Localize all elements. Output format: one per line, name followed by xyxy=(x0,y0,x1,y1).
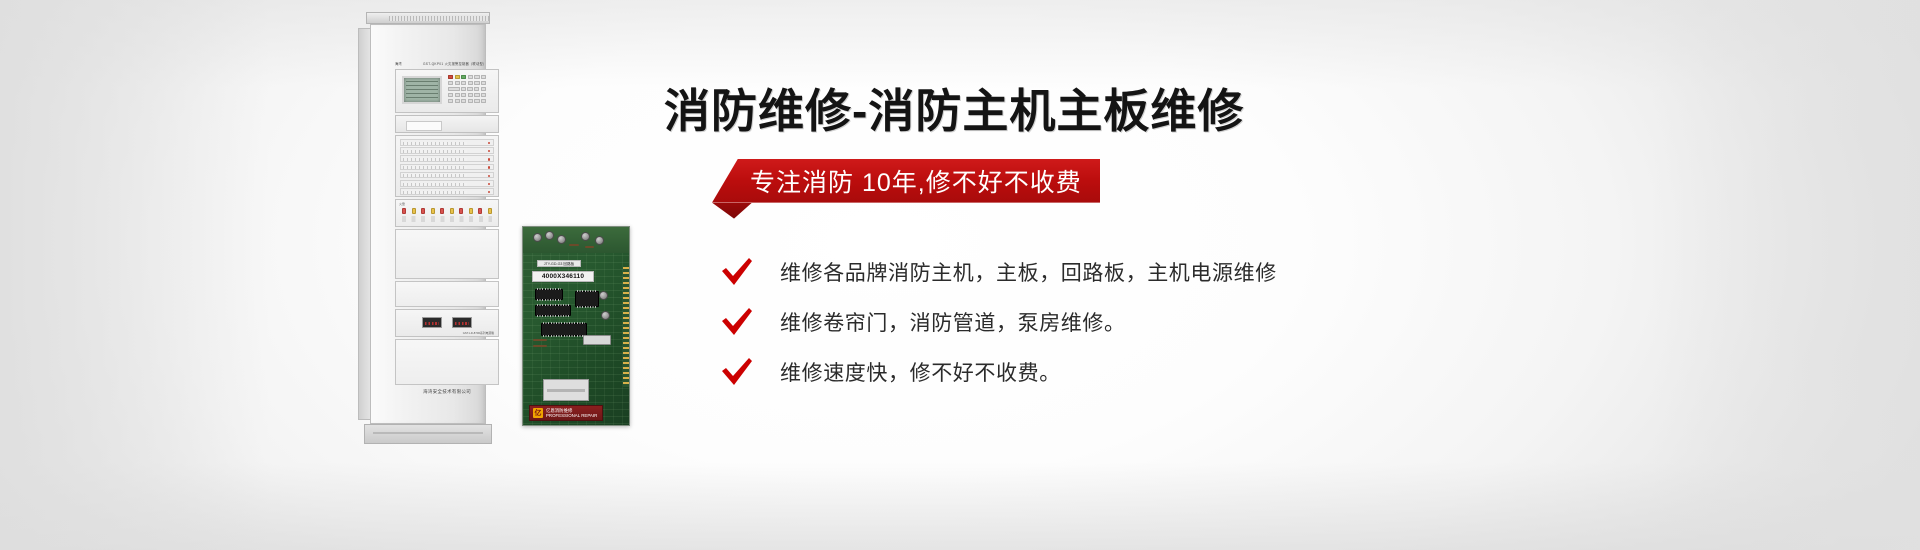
capacitor xyxy=(545,231,554,240)
banner-title: 消防维修-消防主机主板维修 xyxy=(664,86,1844,137)
pcb-sub-label: JTY-GD-G3 回路板 xyxy=(537,260,581,267)
cabinet-body: 海湾 GST-QKP01 火灾报警控制器（联动型） xyxy=(370,24,486,424)
cabinet-top xyxy=(366,12,490,24)
cabinet-blank-panel xyxy=(395,229,499,279)
list-item-label: 维修各品牌消防主机，主板，回路板，主机电源维修 xyxy=(780,257,1277,287)
resistor xyxy=(569,244,579,246)
loop-card-row xyxy=(400,188,494,195)
loop-card-row xyxy=(400,147,494,154)
cabinet-loop-card-rack xyxy=(395,135,499,197)
cabinet-brand-mark: 海湾 xyxy=(395,61,402,66)
circuit-board-image: JTY-GD-G3 回路板 4000X346110 亿 亿恩消防维修 PROFE… xyxy=(522,226,630,426)
connector xyxy=(583,335,611,345)
cabinet-printer-drawer xyxy=(395,115,499,133)
cabinet-blank-panel xyxy=(395,281,499,307)
loop-card-row xyxy=(400,164,494,171)
check-icon xyxy=(720,257,754,287)
resistor xyxy=(585,246,594,248)
ribbon-tail xyxy=(712,203,752,219)
lcd-text-lines xyxy=(406,81,438,101)
indicator-panel-label: 火警 xyxy=(399,202,405,206)
list-item-label: 维修卷帘门，消防管道，泵房维修。 xyxy=(780,307,1126,337)
led-strip xyxy=(402,208,492,214)
cabinet-keypad xyxy=(448,75,496,109)
list-item: 维修各品牌消防主机，主板，回路板，主机电源维修 xyxy=(664,247,1844,297)
ribbon-label: 专注消防 10年,修不好不收费 xyxy=(712,163,1082,199)
check-icon xyxy=(720,307,754,337)
cabinet-power-meter-module: GST-LD-8700系列电源箱 xyxy=(395,309,499,337)
feature-list: 维修各品牌消防主机，主板，回路板，主机电源维修 维修卷帘门，消防管道，泵房维修。… xyxy=(664,247,1844,397)
capacitor xyxy=(533,233,542,242)
cabinet-lower-panel xyxy=(395,339,499,385)
ic-chip xyxy=(535,305,571,316)
ic-socket xyxy=(543,379,589,401)
promo-banner: 海湾 GST-QKP01 火灾报警控制器（联动型） xyxy=(0,0,1920,550)
ic-chip xyxy=(575,291,599,307)
cabinet-lcd-screen xyxy=(402,76,442,104)
pcb-part-number-label: 4000X346110 xyxy=(532,271,594,282)
cabinet-base xyxy=(364,424,492,444)
list-item-label: 维修速度快，修不好不收费。 xyxy=(780,357,1061,387)
loop-card-row xyxy=(400,172,494,179)
cabinet-display-module xyxy=(395,69,499,113)
capacitor xyxy=(557,235,566,244)
capacitor xyxy=(599,291,608,300)
slogan-ribbon: 专注消防 10年,修不好不收费 xyxy=(664,159,1100,207)
loop-card-row xyxy=(400,139,494,146)
cabinet-head-label: GST-QKP01 火灾报警控制器（联动型） xyxy=(423,61,485,66)
ic-chip xyxy=(535,289,563,300)
loop-card-row xyxy=(400,180,494,187)
current-meter xyxy=(452,317,472,328)
led-label-strip xyxy=(402,216,492,222)
list-item: 维修卷帘门，消防管道，泵房维修。 xyxy=(664,297,1844,347)
resistor xyxy=(533,339,547,341)
badge-logo-mark: 亿 xyxy=(533,408,543,418)
edge-connector xyxy=(623,267,629,387)
watermark-badge: 亿 亿恩消防维修 PROFESSIONAL REPAIR xyxy=(529,405,603,421)
cabinet-company-name: 海湾安全技术有限公司 xyxy=(395,389,499,395)
ribbon-body: 专注消防 10年,修不好不收费 xyxy=(712,159,1100,203)
capacitor xyxy=(595,236,604,245)
resistor xyxy=(533,345,547,347)
fire-alarm-control-panel-image: 海湾 GST-QKP01 火灾报警控制器（联动型） xyxy=(352,12,504,446)
loop-card-row xyxy=(400,155,494,162)
list-item: 维修速度快，修不好不收费。 xyxy=(664,347,1844,397)
cabinet-indicator-panel: 火警 xyxy=(395,199,499,227)
badge-text-line2: PROFESSIONAL REPAIR xyxy=(546,413,597,418)
ic-chip xyxy=(541,323,587,336)
power-module-label: GST-LD-8700系列电源箱 xyxy=(463,331,494,335)
badge-text: 亿恩消防维修 PROFESSIONAL REPAIR xyxy=(546,408,597,418)
cabinet-vent-grill xyxy=(389,16,489,21)
banner-content: 消防维修-消防主机主板维修 专注消防 10年,修不好不收费 维修各品牌消防主机，… xyxy=(664,86,1844,466)
capacitor xyxy=(581,232,590,241)
capacitor xyxy=(601,311,610,320)
voltage-meter xyxy=(422,317,442,328)
check-icon xyxy=(720,357,754,387)
